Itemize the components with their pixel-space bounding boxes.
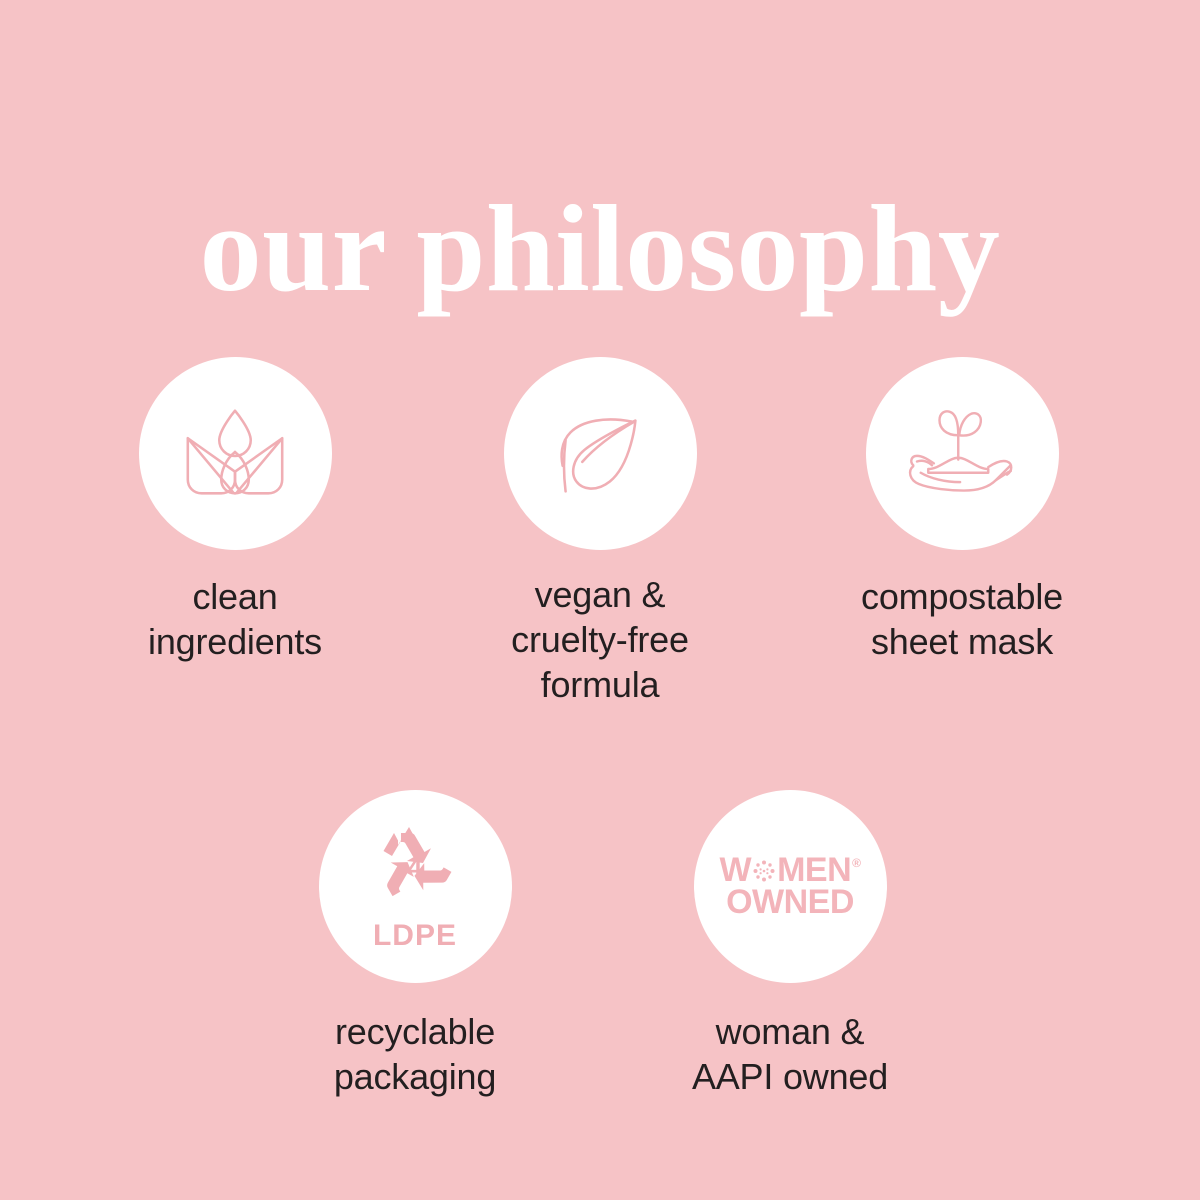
registered-mark: ®: [852, 857, 860, 869]
feature-icon-circle: [866, 357, 1059, 550]
feature-recyclable-packaging: 4 LDPE recyclable packaging: [285, 790, 545, 1099]
philosophy-graphic: our philosophy: [0, 0, 1200, 1200]
feature-icon-circle: [139, 357, 332, 550]
resin-code: 4: [408, 852, 423, 882]
feature-vegan-cruelty-free: vegan & cruelty-free formula: [470, 357, 730, 707]
feature-compostable-sheet-mask: compostable sheet mask: [832, 357, 1092, 664]
feature-icon-circle: [504, 357, 697, 550]
features-grid: clean ingredients ve: [0, 0, 1200, 1200]
women-owned-badge-icon: W: [720, 855, 861, 919]
feature-icon-circle: 4 LDPE: [319, 790, 512, 983]
recycling-ldpe-icon: 4 LDPE: [363, 823, 467, 951]
women-owned-line-1: W: [720, 855, 861, 887]
feature-woman-aapi-owned: W: [660, 790, 920, 1099]
feature-label: recyclable packaging: [285, 1009, 545, 1099]
resin-name: LDPE: [373, 921, 457, 951]
hand-sprout-icon: [902, 394, 1022, 514]
droplet-leaves-icon: [176, 395, 294, 513]
flower-burst-icon: [751, 858, 777, 884]
feature-clean-ingredients: clean ingredients: [105, 357, 365, 664]
feature-label: vegan & cruelty-free formula: [470, 572, 730, 707]
women-owned-w: W: [720, 855, 752, 887]
feature-label: woman & AAPI owned: [660, 1009, 920, 1099]
leaf-icon: [541, 395, 659, 513]
feature-label: compostable sheet mask: [832, 574, 1092, 664]
women-owned-men: MEN: [777, 855, 851, 887]
women-owned-line-2: OWNED: [726, 887, 854, 919]
feature-icon-circle: W: [694, 790, 887, 983]
feature-label: clean ingredients: [105, 574, 365, 664]
